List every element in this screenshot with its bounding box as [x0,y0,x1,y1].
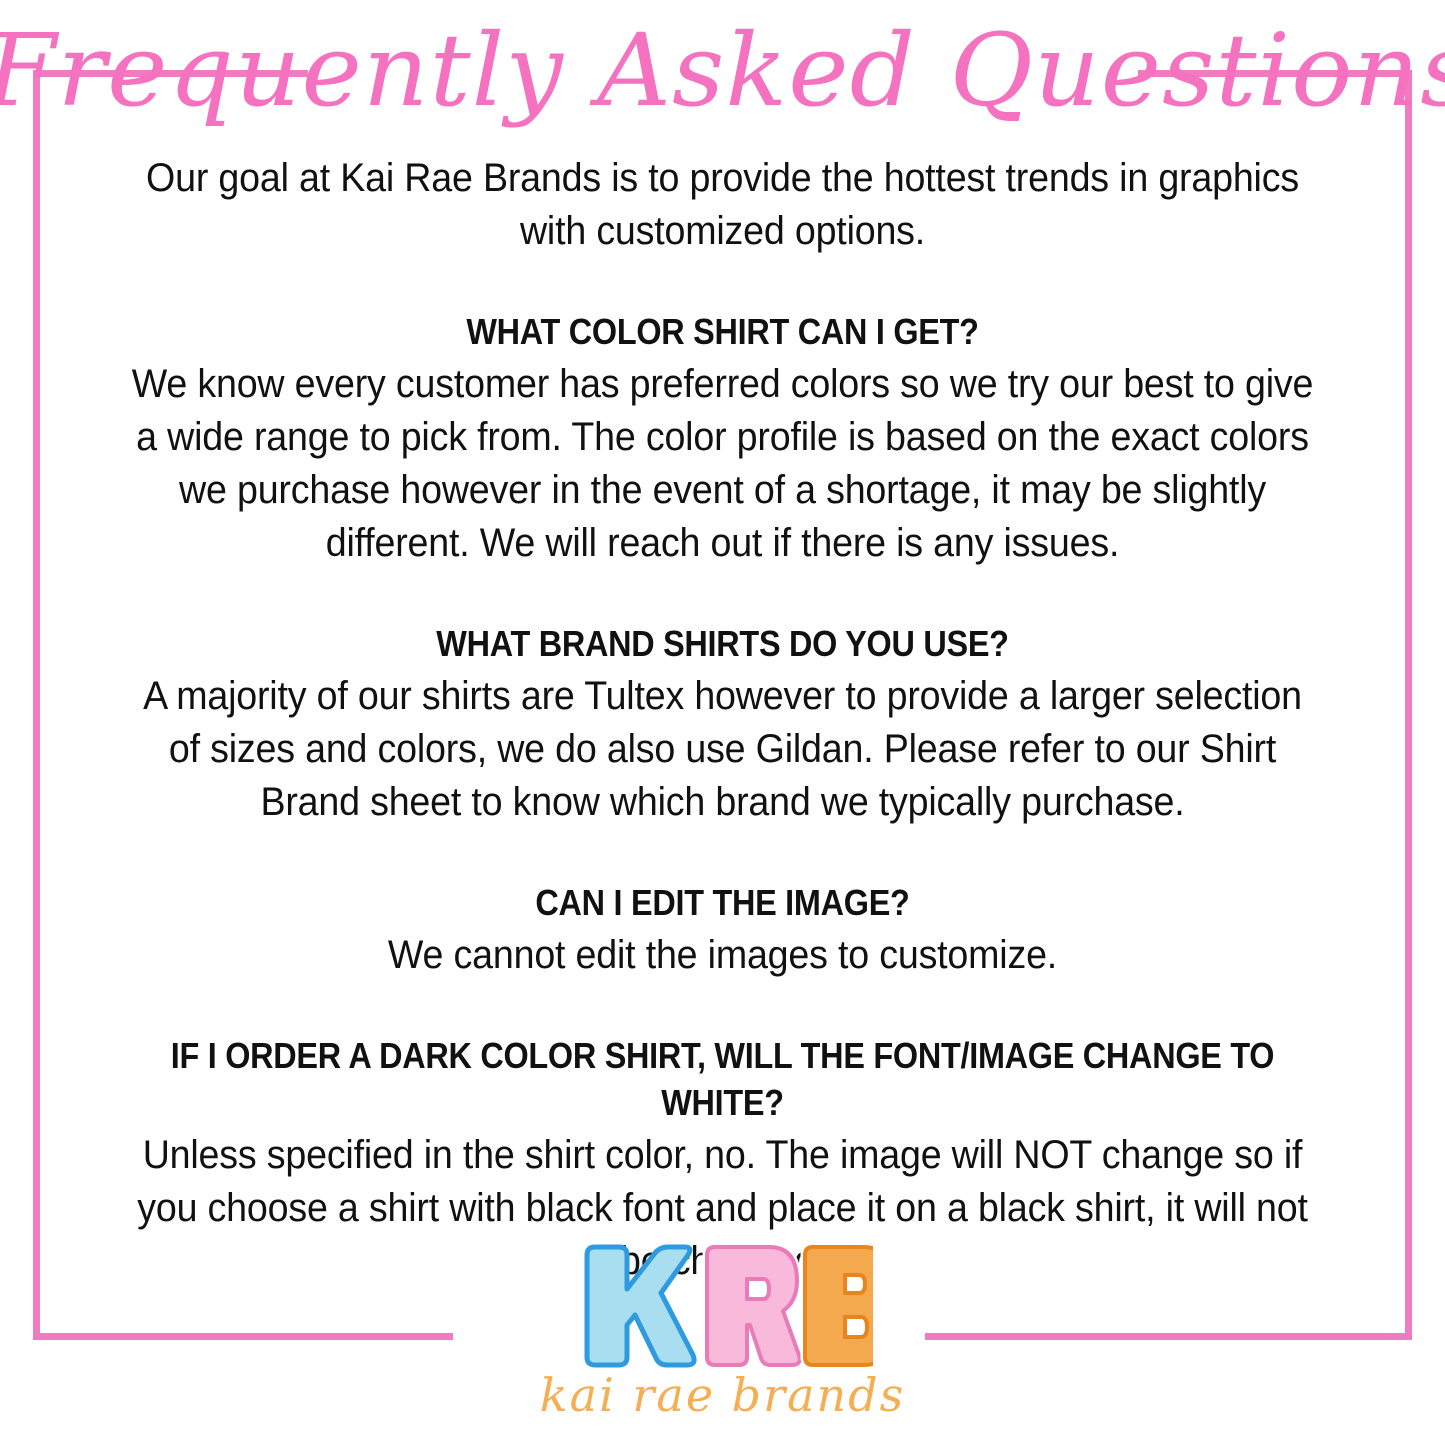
logo-wordmark: kai rae brands [0,1367,1445,1423]
intro-paragraph: Our goal at Kai Rae Brands is to provide… [132,152,1314,258]
faq-question-3: CAN I EDIT THE IMAGE? [157,879,1288,926]
frame-left-segment [33,70,40,1340]
faq-item-2: WHAT BRAND SHIRTS DO YOU USE? A majority… [94,620,1351,829]
faq-item-1: WHAT COLOR SHIRT CAN I GET? We know ever… [94,308,1351,570]
logo-letter-k [587,1247,694,1365]
faq-question-1: WHAT COLOR SHIRT CAN I GET? [157,308,1288,355]
faq-content: Our goal at Kai Rae Brands is to provide… [94,152,1351,1288]
faq-answer-1: We know every customer has preferred col… [132,358,1314,570]
logo-letter-b [805,1247,873,1365]
faq-question-2: WHAT BRAND SHIRTS DO YOU USE? [157,620,1288,667]
faq-answer-3: We cannot edit the images to customize. [132,929,1314,982]
brand-logo: kai rae brands [0,1243,1445,1423]
faq-answer-2: A majority of our shirts are Tultex howe… [132,670,1314,829]
faq-question-4: IF I ORDER A DARK COLOR SHIRT, WILL THE … [157,1032,1288,1126]
frame-right-segment [1405,70,1412,1340]
page-title: Frequently Asked Questions [0,6,1445,136]
faq-item-3: CAN I EDIT THE IMAGE? We cannot edit the… [94,879,1351,982]
krb-monogram-icon [0,1243,1445,1373]
logo-letter-r [707,1247,800,1365]
faq-graphic: Frequently Asked Questions Our goal at K… [0,0,1445,1445]
